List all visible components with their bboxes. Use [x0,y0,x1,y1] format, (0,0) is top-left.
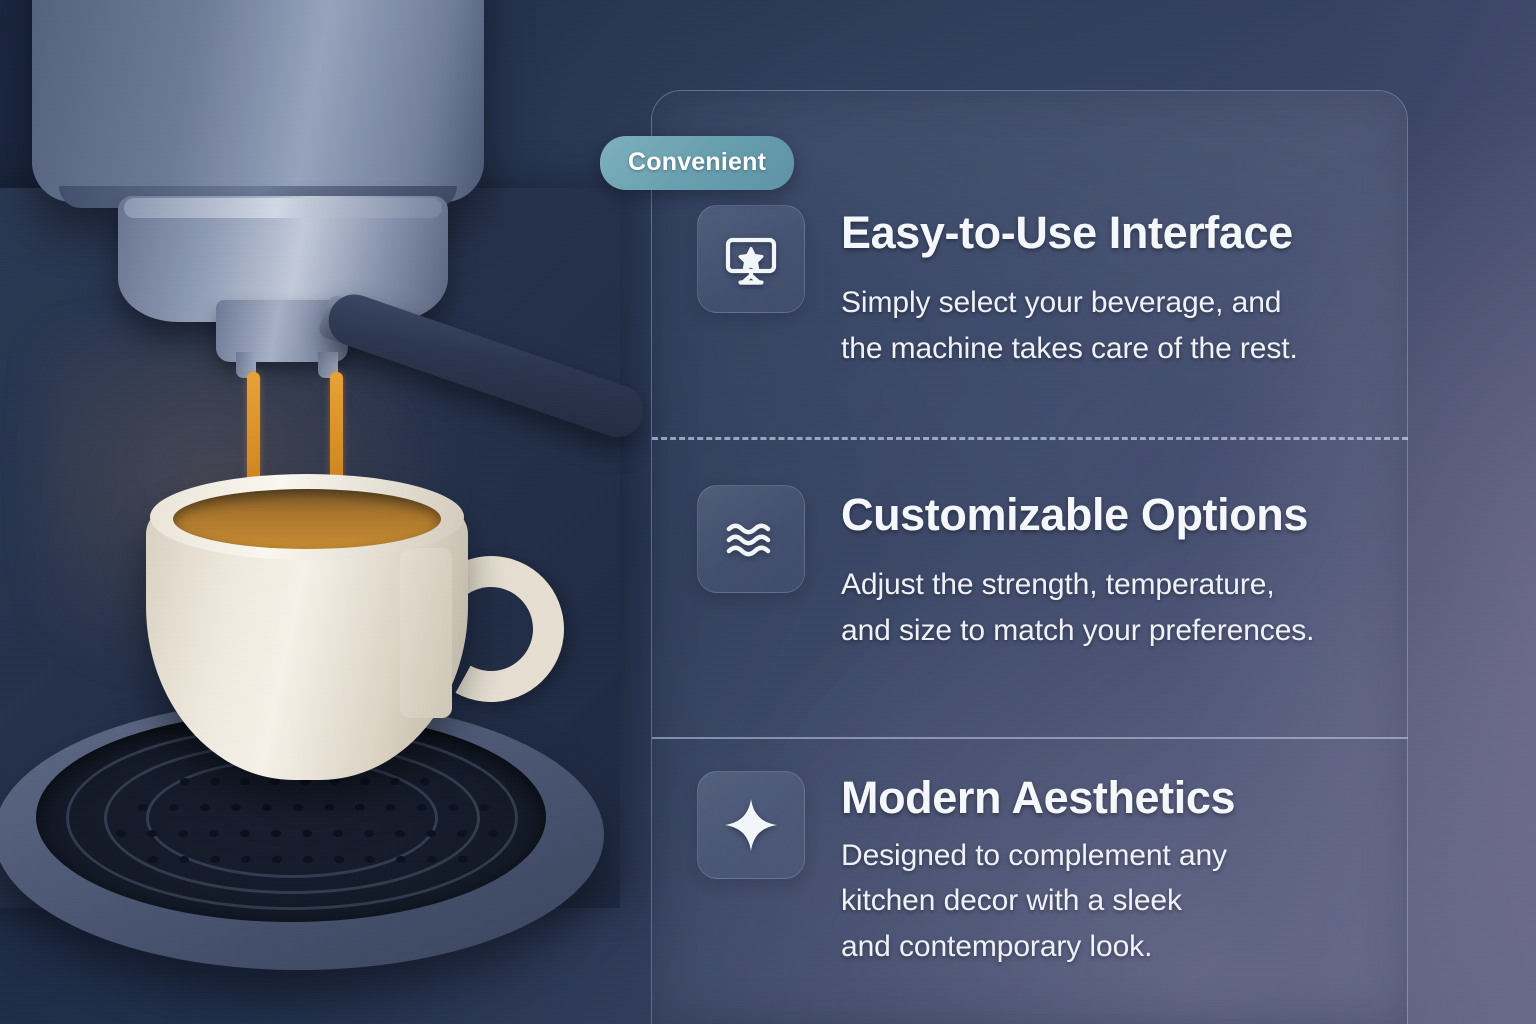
feature-title: Easy-to-Use Interface [841,205,1387,262]
feature-text: Modern Aesthetics Designed to complement… [841,771,1387,970]
feature-item-easy-to-use-interface: Easy-to-Use Interface Simply select your… [697,205,1387,371]
feature-divider-solid [652,737,1408,739]
feature-text: Easy-to-Use Interface Simply select your… [841,205,1387,371]
feature-title: Modern Aesthetics [841,773,1387,823]
feature-description: Adjust the strength, temperature, and si… [841,562,1387,654]
cup-handle-joint [400,548,452,718]
feature-icon-tile [697,205,805,313]
monitor-star-icon [721,229,781,289]
feature-text: Customizable Options Adjust the strength… [841,485,1387,653]
feature-description: Designed to complement any kitchen decor… [841,833,1387,971]
screenshot-stage: Convenient Easy-to-Use Interface Simply … [0,0,1536,1024]
feature-title: Customizable Options [841,487,1387,544]
feature-icon-tile [697,771,805,879]
badge-label: Convenient [628,148,766,176]
feature-item-modern-aesthetics: Modern Aesthetics Designed to complement… [697,771,1387,970]
sparkle-icon [721,795,781,855]
feature-description: Simply select your beverage, and the mac… [841,280,1387,372]
drip-tray-holes [60,770,530,890]
waves-icon [721,509,781,569]
espresso-group-rim [124,198,442,218]
espresso-machine-head [32,0,484,202]
feature-divider-dashed [652,437,1408,440]
cup-coffee-surface [173,489,441,549]
status-badge: Convenient [600,136,794,190]
feature-icon-tile [697,485,805,593]
feature-item-customizable-options: Customizable Options Adjust the strength… [697,485,1387,653]
